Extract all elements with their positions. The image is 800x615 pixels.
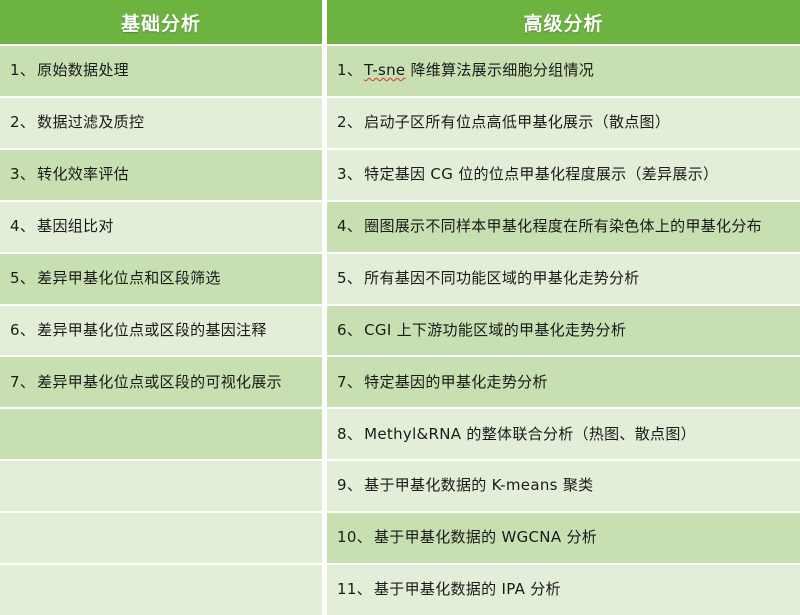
row-label: 差异甲基化位点或区段的可视化展示 xyxy=(37,373,282,393)
row-index: 6、 xyxy=(337,321,362,341)
table-body: 1、原始数据处理2、数据过滤及质控3、转化效率评估4、基因组比对5、差异甲基化位… xyxy=(0,46,800,615)
row-label: 基于甲基化数据的 WGCNA 分析 xyxy=(374,528,597,548)
row-index: 7、 xyxy=(337,373,362,393)
row-index: 2、 xyxy=(337,113,362,133)
row-label: 转化效率评估 xyxy=(37,165,129,185)
table-row: 3、转化效率评估 xyxy=(0,150,322,202)
row-label: 基于甲基化数据的 IPA 分析 xyxy=(374,580,561,600)
table-row: 6、CGI 上下游功能区域的甲基化走势分析 xyxy=(327,306,800,358)
row-index: 8、 xyxy=(337,425,362,445)
row-index: 4、 xyxy=(337,217,362,237)
row-index: 11、 xyxy=(337,580,372,600)
row-index: 10、 xyxy=(337,528,372,548)
basic-analysis-column: 1、原始数据处理2、数据过滤及质控3、转化效率评估4、基因组比对5、差异甲基化位… xyxy=(0,46,322,615)
table-header-row: 基础分析 高级分析 xyxy=(0,0,800,46)
row-label: 差异甲基化位点或区段的基因注释 xyxy=(37,321,267,341)
header-advanced-analysis: 高级分析 xyxy=(327,0,800,44)
row-index: 2、 xyxy=(10,113,35,133)
row-label: 所有基因不同功能区域的甲基化走势分析 xyxy=(364,269,639,289)
analysis-comparison-table: 基础分析 高级分析 1、原始数据处理2、数据过滤及质控3、转化效率评估4、基因组… xyxy=(0,0,800,615)
table-row: 8、Methyl&RNA 的整体联合分析（热图、散点图） xyxy=(327,409,800,461)
table-row-empty xyxy=(0,565,322,615)
table-row: 1、原始数据处理 xyxy=(0,46,322,98)
table-row: 2、启动子区所有位点高低甲基化展示（散点图） xyxy=(327,98,800,150)
row-index: 7、 xyxy=(10,373,35,393)
row-label: CGI 上下游功能区域的甲基化走势分析 xyxy=(364,321,626,341)
table-row: 4、基因组比对 xyxy=(0,202,322,254)
row-index: 5、 xyxy=(337,269,362,289)
row-label: T-sne 降维算法展示细胞分组情况 xyxy=(364,61,594,81)
row-label: 原始数据处理 xyxy=(37,61,129,81)
row-index: 9、 xyxy=(337,476,362,496)
table-row: 5、所有基因不同功能区域的甲基化走势分析 xyxy=(327,254,800,306)
table-row-empty xyxy=(0,461,322,513)
header-basic-analysis: 基础分析 xyxy=(0,0,322,44)
row-label: Methyl&RNA 的整体联合分析（热图、散点图） xyxy=(364,425,696,445)
table-row: 7、差异甲基化位点或区段的可视化展示 xyxy=(0,357,322,409)
table-row: 2、数据过滤及质控 xyxy=(0,98,322,150)
row-label: 基于甲基化数据的 K-means 聚类 xyxy=(364,476,593,496)
table-row: 11、基于甲基化数据的 IPA 分析 xyxy=(327,565,800,615)
row-index: 1、 xyxy=(10,61,35,81)
row-label: 圈图展示不同样本甲基化程度在所有染色体上的甲基化分布 xyxy=(364,217,762,237)
table-row: 4、圈图展示不同样本甲基化程度在所有染色体上的甲基化分布 xyxy=(327,202,800,254)
row-index: 3、 xyxy=(337,165,362,185)
table-row: 10、基于甲基化数据的 WGCNA 分析 xyxy=(327,513,800,565)
advanced-analysis-column: 1、T-sne 降维算法展示细胞分组情况2、启动子区所有位点高低甲基化展示（散点… xyxy=(327,46,800,615)
row-label: 基因组比对 xyxy=(37,217,114,237)
table-row: 1、T-sne 降维算法展示细胞分组情况 xyxy=(327,46,800,98)
row-index: 6、 xyxy=(10,321,35,341)
table-row: 7、特定基因的甲基化走势分析 xyxy=(327,357,800,409)
row-index: 3、 xyxy=(10,165,35,185)
row-index: 5、 xyxy=(10,269,35,289)
row-label: 差异甲基化位点和区段筛选 xyxy=(37,269,221,289)
spellcheck-underline: T-sne xyxy=(364,61,405,79)
table-row: 5、差异甲基化位点和区段筛选 xyxy=(0,254,322,306)
row-index: 1、 xyxy=(337,61,362,81)
table-row: 6、差异甲基化位点或区段的基因注释 xyxy=(0,306,322,358)
row-index: 4、 xyxy=(10,217,35,237)
row-label: 启动子区所有位点高低甲基化展示（散点图） xyxy=(364,113,670,133)
row-label: 特定基因 CG 位的位点甲基化程度展示（差异展示） xyxy=(364,165,718,185)
table-row: 3、特定基因 CG 位的位点甲基化程度展示（差异展示） xyxy=(327,150,800,202)
row-label: 数据过滤及质控 xyxy=(37,113,144,133)
row-label: 特定基因的甲基化走势分析 xyxy=(364,373,548,393)
table-row: 9、基于甲基化数据的 K-means 聚类 xyxy=(327,461,800,513)
table-row-empty xyxy=(0,409,322,461)
table-row-empty xyxy=(0,513,322,565)
